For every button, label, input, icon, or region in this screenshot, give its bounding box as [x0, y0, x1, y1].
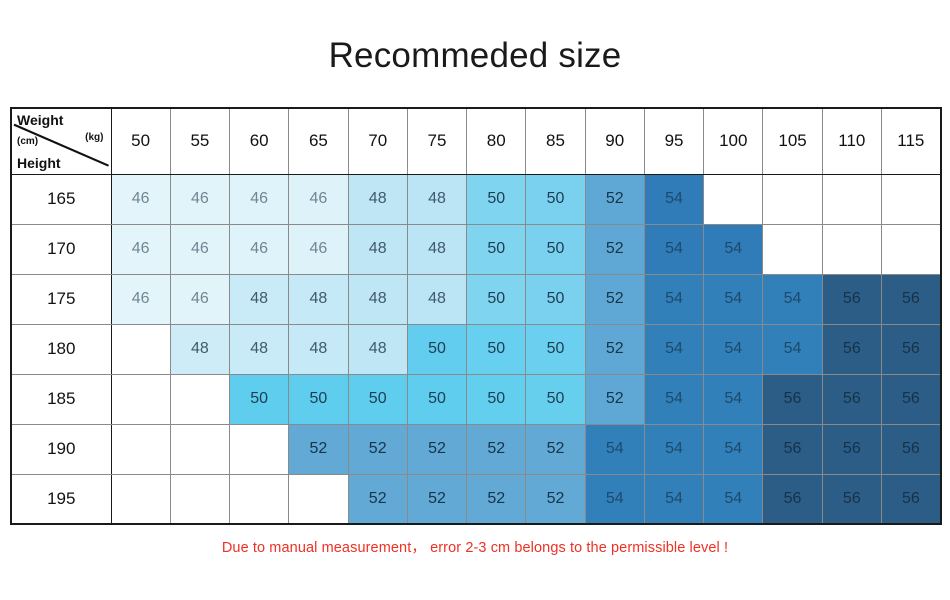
height-row-header: 195	[11, 474, 111, 524]
size-cell: 48	[348, 274, 407, 324]
size-cell-empty	[704, 174, 763, 224]
size-cell: 46	[230, 224, 289, 274]
size-cell: 50	[526, 274, 585, 324]
size-cell: 52	[407, 424, 466, 474]
header-row: Weight (kg) (cm) Height 5055606570758085…	[11, 108, 941, 174]
size-cell: 52	[585, 374, 644, 424]
size-cell-empty	[230, 474, 289, 524]
size-cell: 52	[585, 274, 644, 324]
size-cell: 48	[407, 274, 466, 324]
height-row-header: 170	[11, 224, 111, 274]
size-cell: 54	[704, 474, 763, 524]
size-table-container: Weight (kg) (cm) Height 5055606570758085…	[10, 107, 940, 525]
size-cell: 48	[407, 174, 466, 224]
size-cell: 46	[170, 274, 229, 324]
size-cell: 52	[467, 474, 526, 524]
size-cell: 52	[526, 424, 585, 474]
weight-column-header: 50	[111, 108, 170, 174]
size-cell: 54	[704, 224, 763, 274]
size-cell: 48	[289, 324, 348, 374]
size-cell: 56	[881, 474, 940, 524]
weight-column-header: 80	[467, 108, 526, 174]
size-cell: 50	[467, 224, 526, 274]
size-cell: 50	[407, 324, 466, 374]
size-cell: 48	[348, 174, 407, 224]
height-axis-unit: (cm)	[17, 137, 38, 147]
size-chart-page: Recommeded size Weight (kg) (cm) Height	[0, 0, 950, 600]
table-body: 1654646464648485050525417046464646484850…	[11, 174, 941, 524]
size-cell-empty	[881, 174, 940, 224]
size-cell: 46	[230, 174, 289, 224]
size-table: Weight (kg) (cm) Height 5055606570758085…	[10, 107, 942, 525]
size-cell: 52	[467, 424, 526, 474]
size-cell: 46	[111, 224, 170, 274]
weight-axis-label: Weight	[17, 113, 63, 127]
height-row-header: 190	[11, 424, 111, 474]
weight-column-header: 90	[585, 108, 644, 174]
page-title: Recommeded size	[0, 0, 950, 75]
weight-column-header: 105	[763, 108, 822, 174]
table-head: Weight (kg) (cm) Height 5055606570758085…	[11, 108, 941, 174]
size-cell: 54	[644, 324, 703, 374]
size-cell: 56	[822, 274, 881, 324]
weight-column-header: 75	[407, 108, 466, 174]
size-cell: 52	[407, 474, 466, 524]
weight-column-header: 55	[170, 108, 229, 174]
size-cell: 56	[822, 374, 881, 424]
size-cell: 48	[348, 324, 407, 374]
size-cell: 46	[289, 174, 348, 224]
size-cell: 52	[348, 474, 407, 524]
axis-corner-cell: Weight (kg) (cm) Height	[11, 108, 111, 174]
size-cell: 54	[704, 324, 763, 374]
size-cell: 54	[704, 274, 763, 324]
size-cell: 54	[763, 324, 822, 374]
size-cell: 54	[585, 424, 644, 474]
weight-column-header: 95	[644, 108, 703, 174]
size-cell-empty	[822, 224, 881, 274]
size-cell: 52	[585, 324, 644, 374]
weight-column-header: 100	[704, 108, 763, 174]
size-cell: 50	[526, 374, 585, 424]
size-cell: 54	[704, 424, 763, 474]
size-cell: 50	[230, 374, 289, 424]
size-cell: 52	[585, 174, 644, 224]
weight-column-header: 70	[348, 108, 407, 174]
size-cell: 48	[230, 274, 289, 324]
size-cell-empty	[822, 174, 881, 224]
size-cell-empty	[763, 224, 822, 274]
size-cell: 56	[881, 274, 940, 324]
size-cell-empty	[111, 424, 170, 474]
size-cell: 56	[881, 374, 940, 424]
size-cell: 50	[467, 324, 526, 374]
size-cell-empty	[111, 324, 170, 374]
size-cell: 50	[407, 374, 466, 424]
size-cell: 48	[170, 324, 229, 374]
size-cell: 50	[467, 274, 526, 324]
table-row: 16546464646484850505254	[11, 174, 941, 224]
size-cell: 48	[348, 224, 407, 274]
size-cell: 54	[644, 174, 703, 224]
table-row: 19552525252545454565656	[11, 474, 941, 524]
table-row: 1704646464648485050525454	[11, 224, 941, 274]
weight-column-header: 65	[289, 108, 348, 174]
size-cell: 54	[644, 274, 703, 324]
size-cell: 54	[763, 274, 822, 324]
size-cell-empty	[289, 474, 348, 524]
size-cell: 56	[763, 474, 822, 524]
size-cell: 46	[111, 274, 170, 324]
size-cell: 46	[170, 224, 229, 274]
size-cell: 54	[644, 474, 703, 524]
size-cell: 50	[467, 174, 526, 224]
size-cell: 50	[289, 374, 348, 424]
size-cell: 48	[289, 274, 348, 324]
size-cell: 54	[644, 424, 703, 474]
size-cell-empty	[111, 374, 170, 424]
measurement-note: Due to manual measurement， error 2-3 cm …	[0, 536, 950, 557]
weight-column-header: 110	[822, 108, 881, 174]
size-cell: 52	[585, 224, 644, 274]
weight-column-header: 60	[230, 108, 289, 174]
size-cell: 46	[289, 224, 348, 274]
height-row-header: 175	[11, 274, 111, 324]
size-cell: 50	[526, 324, 585, 374]
weight-column-header: 115	[881, 108, 940, 174]
size-cell: 56	[822, 324, 881, 374]
size-cell-empty	[170, 474, 229, 524]
table-row: 1754646484848485050525454545656	[11, 274, 941, 324]
size-cell: 46	[170, 174, 229, 224]
size-cell: 52	[289, 424, 348, 474]
size-cell: 56	[822, 474, 881, 524]
height-axis-label: Height	[17, 156, 61, 170]
size-cell: 56	[763, 424, 822, 474]
size-cell: 46	[111, 174, 170, 224]
size-cell-empty	[111, 474, 170, 524]
size-cell: 56	[881, 324, 940, 374]
size-cell: 56	[822, 424, 881, 474]
size-cell: 52	[526, 474, 585, 524]
size-cell: 50	[467, 374, 526, 424]
size-cell: 50	[526, 174, 585, 224]
size-cell-empty	[170, 424, 229, 474]
table-row: 18048484848505050525454545656	[11, 324, 941, 374]
size-cell: 50	[526, 224, 585, 274]
size-cell: 54	[704, 374, 763, 424]
size-cell: 52	[348, 424, 407, 474]
weight-column-header: 85	[526, 108, 585, 174]
size-cell: 48	[230, 324, 289, 374]
height-row-header: 165	[11, 174, 111, 224]
table-row: 1905252525252545454565656	[11, 424, 941, 474]
size-cell: 54	[644, 224, 703, 274]
size-cell: 54	[585, 474, 644, 524]
weight-axis-unit: (kg)	[85, 133, 103, 143]
size-cell-empty	[763, 174, 822, 224]
size-cell: 54	[644, 374, 703, 424]
height-row-header: 185	[11, 374, 111, 424]
size-cell: 56	[763, 374, 822, 424]
size-cell-empty	[170, 374, 229, 424]
size-cell: 56	[881, 424, 940, 474]
size-cell-empty	[881, 224, 940, 274]
size-cell-empty	[230, 424, 289, 474]
size-cell: 48	[407, 224, 466, 274]
height-row-header: 180	[11, 324, 111, 374]
size-cell: 50	[348, 374, 407, 424]
table-row: 185505050505050525454565656	[11, 374, 941, 424]
